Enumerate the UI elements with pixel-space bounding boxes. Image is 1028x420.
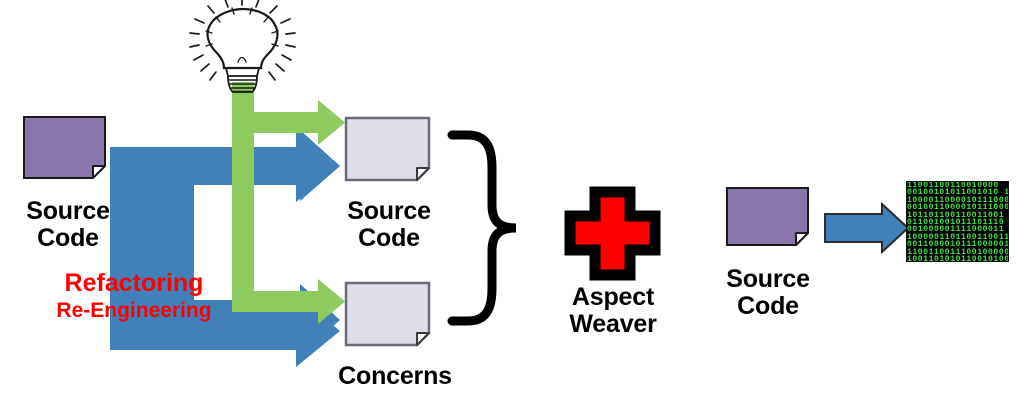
aspect-weaver-label-line2: Weaver xyxy=(548,311,678,338)
woven-source-code-label-line1: Source xyxy=(714,266,822,293)
woven-source-code-label: Source Code xyxy=(714,266,822,319)
document-note-lavender-source xyxy=(346,118,429,180)
red-plus-icon xyxy=(570,192,655,275)
input-source-code-label-line1: Source xyxy=(14,198,122,225)
green-split-arrow xyxy=(232,82,345,324)
refactoring-annotation: Refactoring xyxy=(44,270,224,297)
concerns-label: Concerns xyxy=(325,363,465,390)
re-engineering-annotation: Re-Engineering xyxy=(24,300,244,322)
diagram-canvas: 11001100110010000 00100101011001010 1 10… xyxy=(0,0,1028,420)
aspect-weaver-label: Aspect Weaver xyxy=(548,284,678,337)
binary-matrix-icon: 11001100110010000 00100101011001010 1 10… xyxy=(906,181,1009,262)
binary-row: 10011010101100101001 xyxy=(907,256,1008,262)
aspect-weaver-label-line1: Aspect xyxy=(548,284,678,311)
output-source-code-label-line1: Source xyxy=(335,198,443,225)
document-note-lavender-concerns xyxy=(346,283,429,345)
woven-source-code-label-line2: Code xyxy=(714,293,822,320)
document-note-purple-input xyxy=(24,117,105,178)
curly-brace-right xyxy=(452,135,516,321)
lightbulb-icon xyxy=(190,0,295,92)
input-source-code-label-line2: Code xyxy=(14,225,122,252)
input-source-code-label: Source Code xyxy=(14,198,122,251)
blue-compile-arrow xyxy=(825,204,908,252)
diagram-graphics-layer xyxy=(0,0,1028,420)
output-source-code-label: Source Code xyxy=(335,198,443,251)
output-source-code-label-line2: Code xyxy=(335,225,443,252)
document-note-purple-woven xyxy=(727,188,808,245)
